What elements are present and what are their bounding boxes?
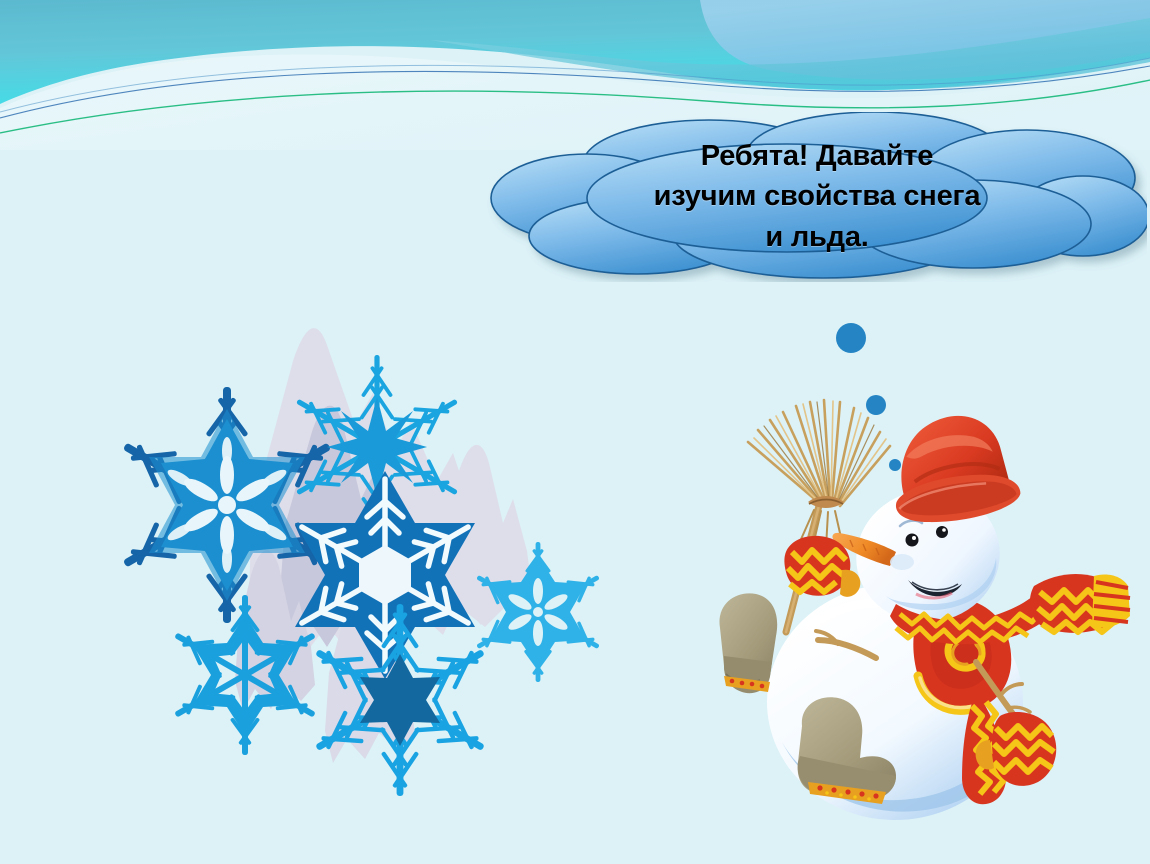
accent-line-blue bbox=[0, 66, 1150, 118]
scarf-tail-end bbox=[1092, 574, 1130, 627]
speech-cloud-callout[interactable]: Ребята! Давайте изучим свойства снега и … bbox=[487, 112, 1147, 282]
slide-canvas: Ребята! Давайте изучим свойства снега и … bbox=[0, 0, 1150, 864]
snowman-illustration bbox=[690, 390, 1130, 835]
accent-line-blue-2 bbox=[0, 58, 1150, 112]
wave-teal-main bbox=[0, 0, 1150, 104]
snowflake-cluster-illustration bbox=[55, 275, 635, 795]
callout-text: Ребята! Давайте изучим свойства снега и … bbox=[487, 136, 1147, 257]
wave-teal-ribbon bbox=[430, 18, 1150, 90]
broom-bristles bbox=[748, 400, 890, 506]
wave-blue-lobe bbox=[700, 0, 1150, 80]
red-cap bbox=[882, 407, 1023, 531]
felt-boot-left bbox=[719, 593, 777, 693]
thought-dot-large bbox=[836, 323, 866, 353]
